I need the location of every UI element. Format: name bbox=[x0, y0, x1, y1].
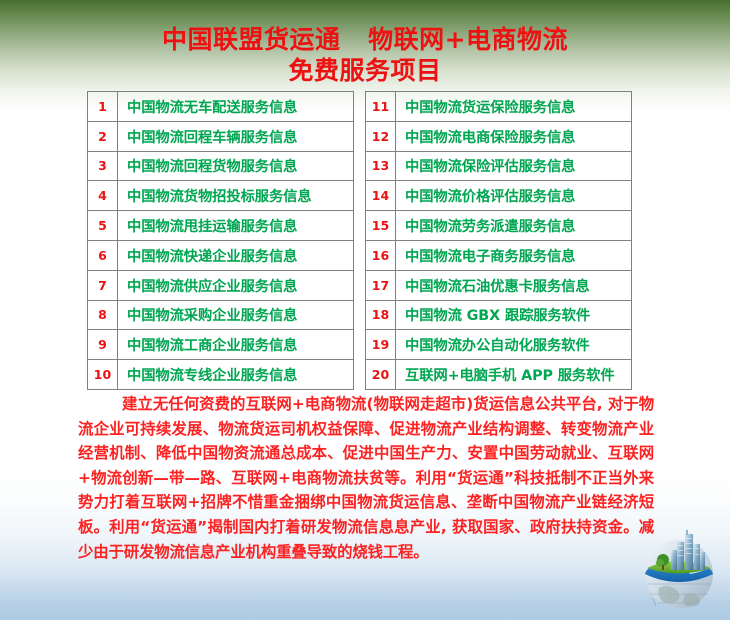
table-row: 8 中国物流采购企业服务信息 bbox=[88, 300, 354, 330]
table-row: 20 互联网+电脑手机 APP 服务软件 bbox=[366, 360, 632, 390]
table-row: 19 中国物流办公自动化服务软件 bbox=[366, 330, 632, 360]
row-number: 4 bbox=[88, 181, 118, 211]
row-number: 1 bbox=[88, 92, 118, 122]
row-number: 10 bbox=[88, 360, 118, 390]
row-number: 7 bbox=[88, 270, 118, 300]
row-label: 中国物流石油优惠卡服务信息 bbox=[396, 270, 632, 300]
row-number: 14 bbox=[366, 181, 396, 211]
table-row: 17 中国物流石油优惠卡服务信息 bbox=[366, 270, 632, 300]
row-number: 6 bbox=[88, 240, 118, 270]
row-label: 中国物流货运保险服务信息 bbox=[396, 92, 632, 122]
row-label: 中国物流货物招投标服务信息 bbox=[118, 181, 354, 211]
row-label: 互联网+电脑手机 APP 服务软件 bbox=[396, 360, 632, 390]
table-row: 2 中国物流回程车辆服务信息 bbox=[88, 121, 354, 151]
table-row: 12 中国物流电商保险服务信息 bbox=[366, 121, 632, 151]
globe-city-icon bbox=[633, 524, 725, 616]
row-label: 中国物流快递企业服务信息 bbox=[118, 240, 354, 270]
row-label: 中国物流采购企业服务信息 bbox=[118, 300, 354, 330]
row-number: 9 bbox=[88, 330, 118, 360]
table-row: 14 中国物流价格评估服务信息 bbox=[366, 181, 632, 211]
row-label: 中国物流无车配送服务信息 bbox=[118, 92, 354, 122]
table-row: 6 中国物流快递企业服务信息 bbox=[88, 240, 354, 270]
row-label: 中国物流劳务派遣服务信息 bbox=[396, 211, 632, 241]
row-label: 中国物流价格评估服务信息 bbox=[396, 181, 632, 211]
row-label: 中国物流 GBX 跟踪服务软件 bbox=[396, 300, 632, 330]
row-number: 15 bbox=[366, 211, 396, 241]
row-number: 13 bbox=[366, 151, 396, 181]
table-row: 16 中国物流电子商务服务信息 bbox=[366, 240, 632, 270]
row-number: 17 bbox=[366, 270, 396, 300]
table-row: 7 中国物流供应企业服务信息 bbox=[88, 270, 354, 300]
table-row: 15 中国物流劳务派遣服务信息 bbox=[366, 211, 632, 241]
row-label: 中国物流办公自动化服务软件 bbox=[396, 330, 632, 360]
row-label: 中国物流电子商务服务信息 bbox=[396, 240, 632, 270]
service-table-left: 1 中国物流无车配送服务信息 2 中国物流回程车辆服务信息 3 中国物流回程货物… bbox=[87, 91, 354, 390]
row-number: 19 bbox=[366, 330, 396, 360]
row-label: 中国物流专线企业服务信息 bbox=[118, 360, 354, 390]
row-number: 18 bbox=[366, 300, 396, 330]
table-row: 1 中国物流无车配送服务信息 bbox=[88, 92, 354, 122]
row-number: 8 bbox=[88, 300, 118, 330]
row-label: 中国物流回程货物服务信息 bbox=[118, 151, 354, 181]
table-row: 9 中国物流工商企业服务信息 bbox=[88, 330, 354, 360]
row-number: 12 bbox=[366, 121, 396, 151]
service-items-table: 1 中国物流无车配送服务信息 2 中国物流回程车辆服务信息 3 中国物流回程货物… bbox=[87, 91, 633, 379]
row-label: 中国物流回程车辆服务信息 bbox=[118, 121, 354, 151]
table-row: 13 中国物流保险评估服务信息 bbox=[366, 151, 632, 181]
table-row: 11 中国物流货运保险服务信息 bbox=[366, 92, 632, 122]
table-row: 18 中国物流 GBX 跟踪服务软件 bbox=[366, 300, 632, 330]
row-number: 16 bbox=[366, 240, 396, 270]
row-number: 3 bbox=[88, 151, 118, 181]
title-line-1: 中国联盟货运通 物联网+电商物流 bbox=[0, 24, 730, 55]
row-number: 20 bbox=[366, 360, 396, 390]
table-row: 5 中国物流甩挂运输服务信息 bbox=[88, 211, 354, 241]
row-label: 中国物流电商保险服务信息 bbox=[396, 121, 632, 151]
body-paragraph: 建立无任何资费的互联网+电商物流(物联网走超市)货运信息公共平台, 对于物流企业… bbox=[78, 392, 654, 564]
row-label: 中国物流保险评估服务信息 bbox=[396, 151, 632, 181]
table-row: 4 中国物流货物招投标服务信息 bbox=[88, 181, 354, 211]
service-table-right: 11 中国物流货运保险服务信息 12 中国物流电商保险服务信息 13 中国物流保… bbox=[365, 91, 632, 390]
table-row: 3 中国物流回程货物服务信息 bbox=[88, 151, 354, 181]
row-label: 中国物流甩挂运输服务信息 bbox=[118, 211, 354, 241]
row-number: 5 bbox=[88, 211, 118, 241]
row-number: 2 bbox=[88, 121, 118, 151]
row-number: 11 bbox=[366, 92, 396, 122]
row-label: 中国物流供应企业服务信息 bbox=[118, 270, 354, 300]
title-line-2: 免费服务项目 bbox=[0, 55, 730, 86]
page-title: 中国联盟货运通 物联网+电商物流 免费服务项目 bbox=[0, 24, 730, 86]
row-label: 中国物流工商企业服务信息 bbox=[118, 330, 354, 360]
table-row: 10 中国物流专线企业服务信息 bbox=[88, 360, 354, 390]
slide-background: 中国联盟货运通 物联网+电商物流 免费服务项目 1 中国物流无车配送服务信息 2… bbox=[0, 0, 730, 620]
